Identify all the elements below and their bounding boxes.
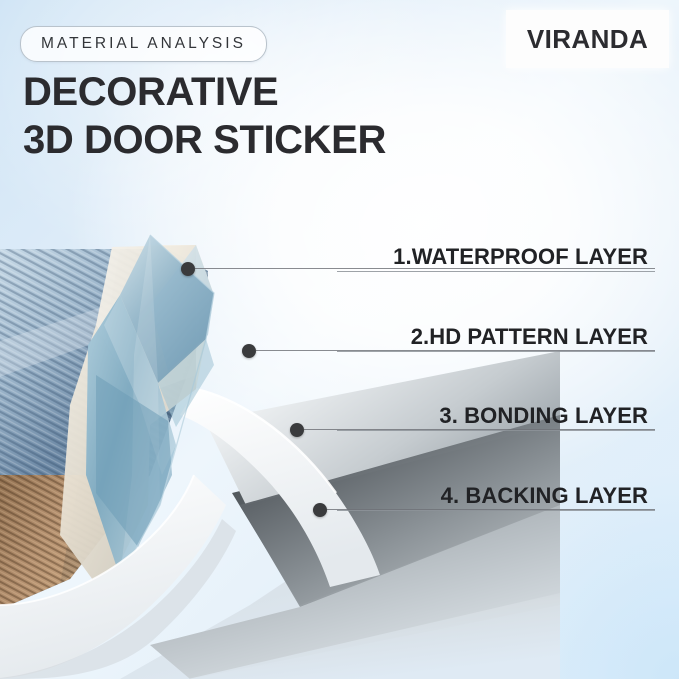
callout-label-3: 3. BONDING LAYER <box>439 403 648 429</box>
callout-label-2: 2.HD PATTERN LAYER <box>411 324 648 350</box>
callout-dot-2 <box>242 344 256 358</box>
callout-underline-3 <box>337 430 655 431</box>
callout-dot-4 <box>313 503 327 517</box>
callout-dot-1 <box>181 262 195 276</box>
callout-label-1: 1.WATERPROOF LAYER <box>393 244 648 270</box>
callout-dot-3 <box>290 423 304 437</box>
callout-underline-1 <box>337 271 655 272</box>
callout-label-4: 4. BACKING LAYER <box>441 483 648 509</box>
callout-underline-2 <box>337 351 655 352</box>
infographic-canvas: MATERIAL ANALYSIS DECORATIVE 3D DOOR STI… <box>0 0 679 679</box>
callout-layer: 1.WATERPROOF LAYER2.HD PATTERN LAYER3. B… <box>0 0 679 679</box>
callout-underline-4 <box>337 510 655 511</box>
